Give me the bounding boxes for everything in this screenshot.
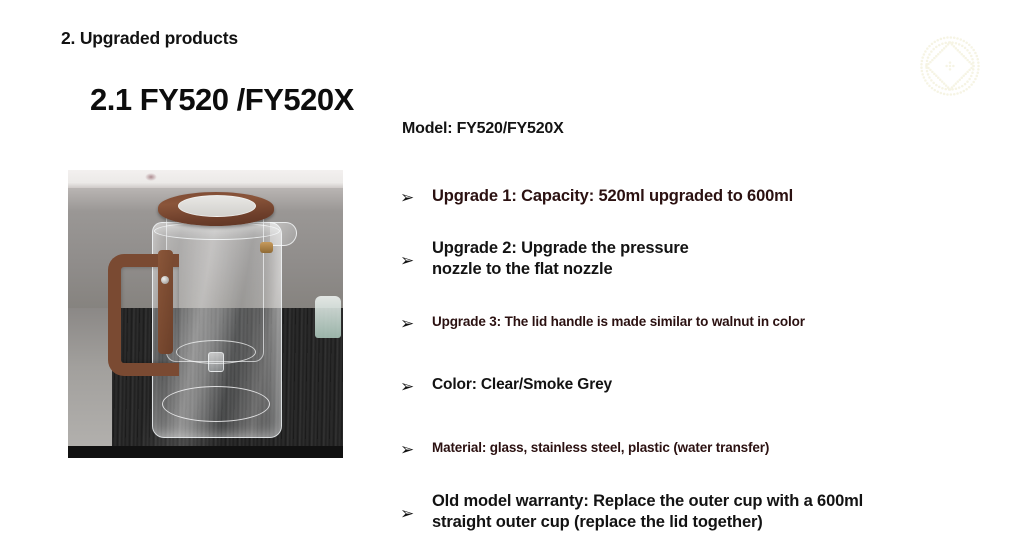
- wall-trim: [68, 170, 343, 188]
- arrow-bullet-icon: ➢: [400, 378, 432, 395]
- handle-mount-plate: [158, 250, 173, 354]
- brand-watermark-logo: [908, 24, 992, 108]
- product-photo: [68, 170, 343, 458]
- arrow-bullet-icon: ➢: [400, 315, 432, 332]
- page-title: 2. Upgraded products: [61, 28, 238, 49]
- table-front-edge: [68, 446, 343, 458]
- feature-bullet-2: ➢Upgrade 2: Upgrade the pressure nozzle …: [400, 238, 689, 280]
- glass-teapot: [152, 192, 280, 438]
- wall-smudge: [145, 173, 157, 181]
- feature-bullet-text: Upgrade 2: Upgrade the pressure nozzle t…: [432, 238, 689, 280]
- teapot-flat-nozzle: [208, 352, 224, 372]
- walnut-wooden-lid: [158, 192, 274, 226]
- background-bottle: [315, 296, 341, 338]
- feature-bullet-text: Upgrade 3: The lid handle is made simila…: [432, 313, 805, 331]
- arrow-bullet-icon: ➢: [400, 189, 432, 206]
- subsection-title: 2.1 FY520 /FY520X: [90, 82, 354, 118]
- feature-bullet-6: ➢Old model warranty: Replace the outer c…: [400, 491, 863, 533]
- feature-bullet-5: ➢Material: glass, stainless steel, plast…: [400, 439, 769, 457]
- arrow-bullet-icon: ➢: [400, 252, 432, 269]
- handle-screw: [161, 276, 169, 284]
- arrow-bullet-icon: ➢: [400, 505, 432, 522]
- lid-top-inset: [178, 195, 256, 217]
- feature-bullet-1: ➢Upgrade 1: Capacity: 520ml upgraded to …: [400, 186, 793, 207]
- feature-bullet-text: Old model warranty: Replace the outer cu…: [432, 491, 863, 533]
- feature-bullet-text: Upgrade 1: Capacity: 520ml upgraded to 6…: [432, 186, 793, 207]
- model-label: Model: FY520/FY520X: [402, 120, 564, 138]
- feature-bullet-text: Color: Clear/Smoke Grey: [432, 375, 612, 395]
- lid-clip: [260, 242, 273, 253]
- feature-bullet-3: ➢Upgrade 3: The lid handle is made simil…: [400, 313, 805, 331]
- feature-bullet-text: Material: glass, stainless steel, plasti…: [432, 439, 769, 457]
- arrow-bullet-icon: ➢: [400, 441, 432, 458]
- feature-bullet-4: ➢Color: Clear/Smoke Grey: [400, 375, 612, 395]
- teapot-base-ring: [162, 386, 270, 422]
